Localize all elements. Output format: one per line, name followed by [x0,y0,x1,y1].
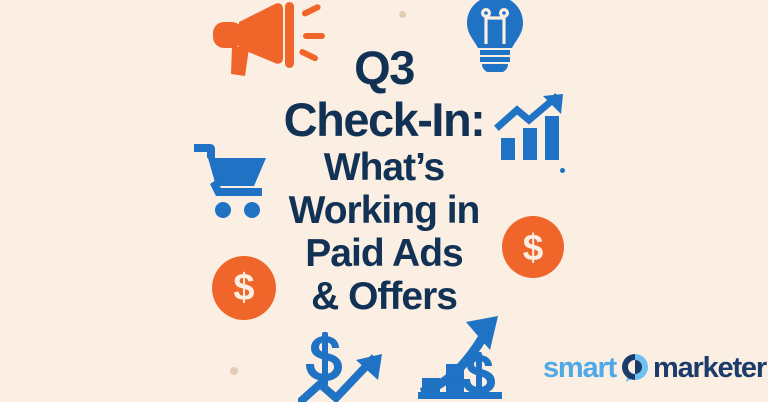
headline-line-2: Check-In: [248,94,520,146]
smart-marketer-logo[interactable]: smart marketer [543,351,766,385]
headline-line-6: & Offers [248,275,520,318]
headline-line-5: Paid Ads [248,232,520,275]
logo-word-marketer: marketer [653,354,766,383]
growth-chart-dollar-icon [416,316,514,402]
logo-word-smart: smart [543,354,616,383]
circular-speech-bubble-icon [620,353,650,383]
decor-dot-tan-bottom [230,367,238,375]
promo-graphic-canvas: $ $ [0,0,768,402]
headline-line-4: Working in [248,189,520,232]
headline-line-3: What’s [248,146,520,189]
decor-dot-blue-right [560,168,565,173]
headline-line-1: Q3 [248,42,520,94]
page-title: Q3 Check-In: What’s Working in Paid Ads … [248,42,520,318]
decor-dot-tan-top [399,11,406,18]
dollar-trend-arrow-icon [298,330,390,402]
dollar-badge-right-symbol: $ [523,229,544,266]
